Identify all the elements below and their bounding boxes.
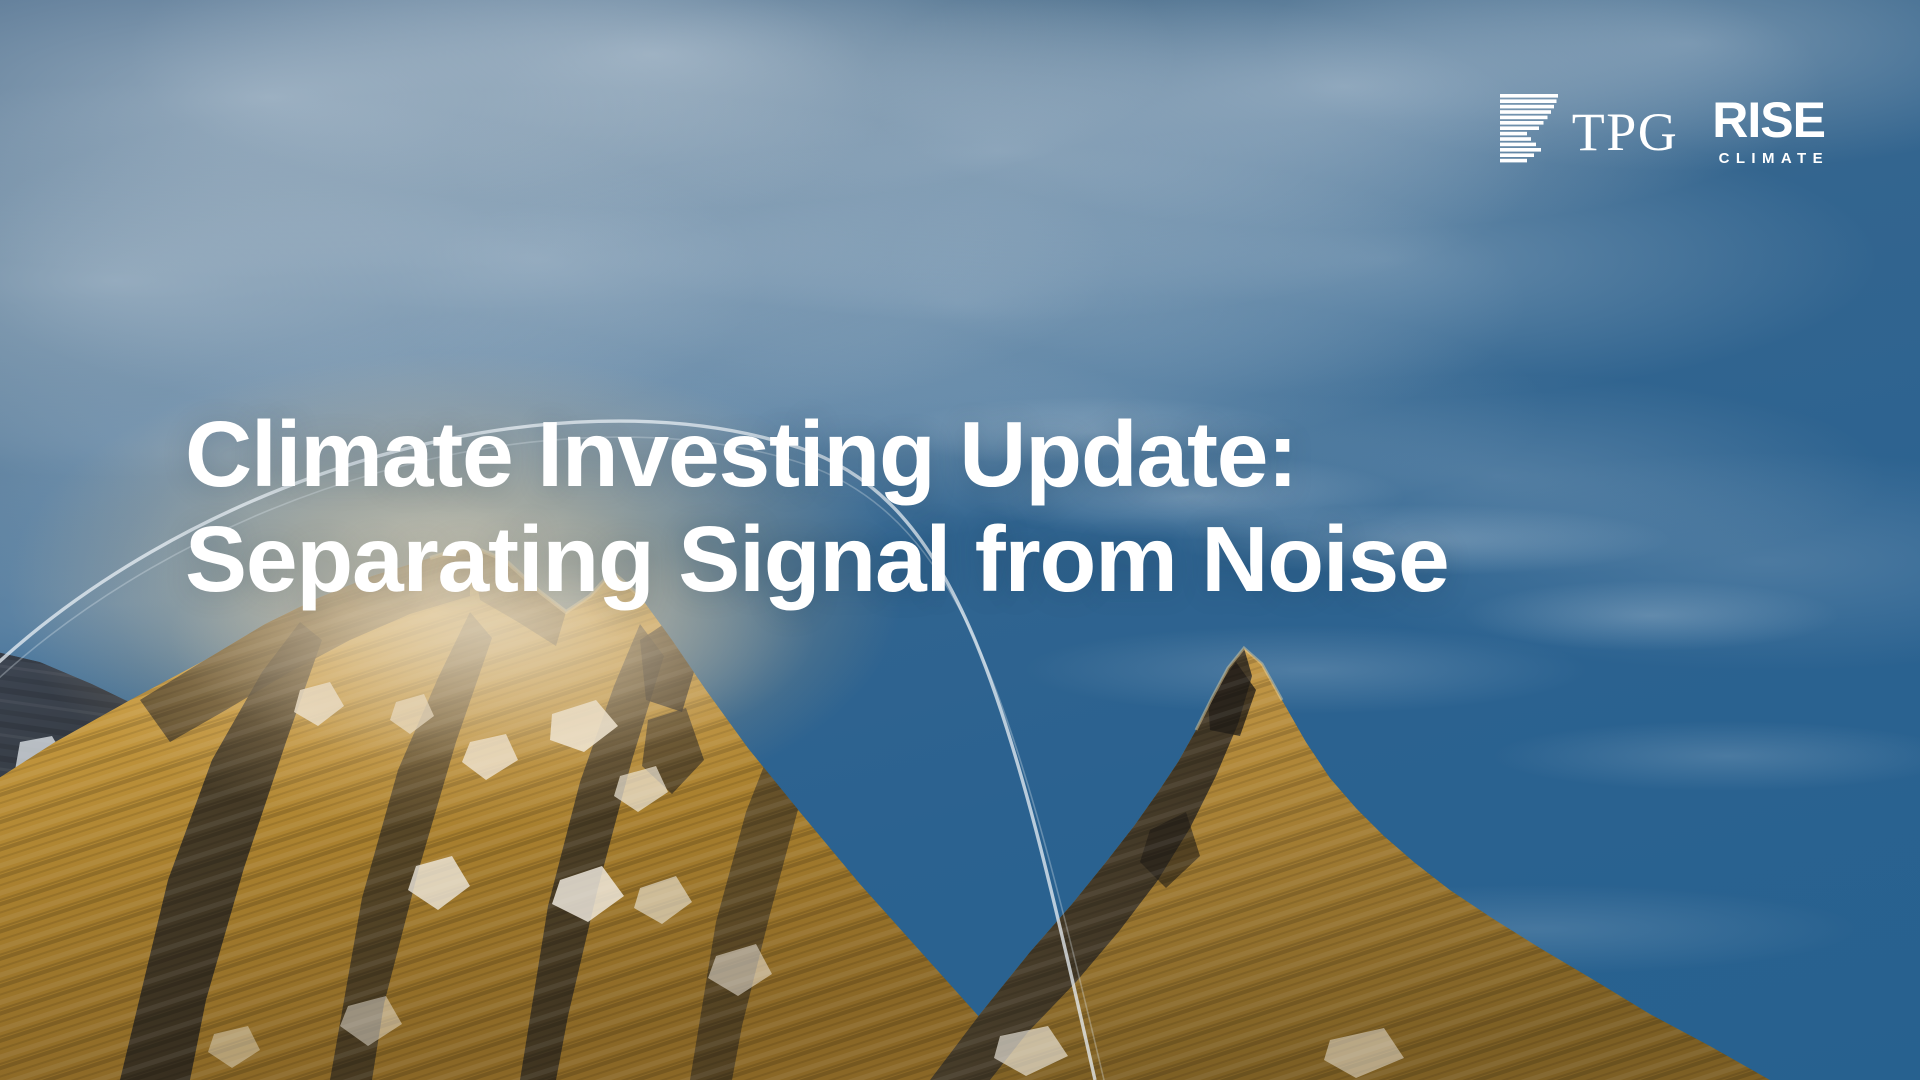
tpg-wordmark: TPG bbox=[1572, 105, 1679, 159]
tpg-striped-mark-icon bbox=[1500, 94, 1558, 166]
logo-lockup: TPG RISE CLIMATE bbox=[1500, 88, 1825, 172]
tpg-logo: TPG bbox=[1500, 94, 1679, 166]
climate-wordmark: CLIMATE bbox=[1719, 151, 1829, 166]
rise-wordmark: RISE bbox=[1712, 96, 1825, 144]
title-slide: Climate Investing Update: Separating Sig… bbox=[0, 0, 1920, 1080]
lockup-divider bbox=[1678, 130, 1712, 131]
rise-climate-logo: RISE CLIMATE bbox=[1712, 96, 1825, 166]
slide-title: Climate Investing Update: Separating Sig… bbox=[185, 402, 1665, 612]
